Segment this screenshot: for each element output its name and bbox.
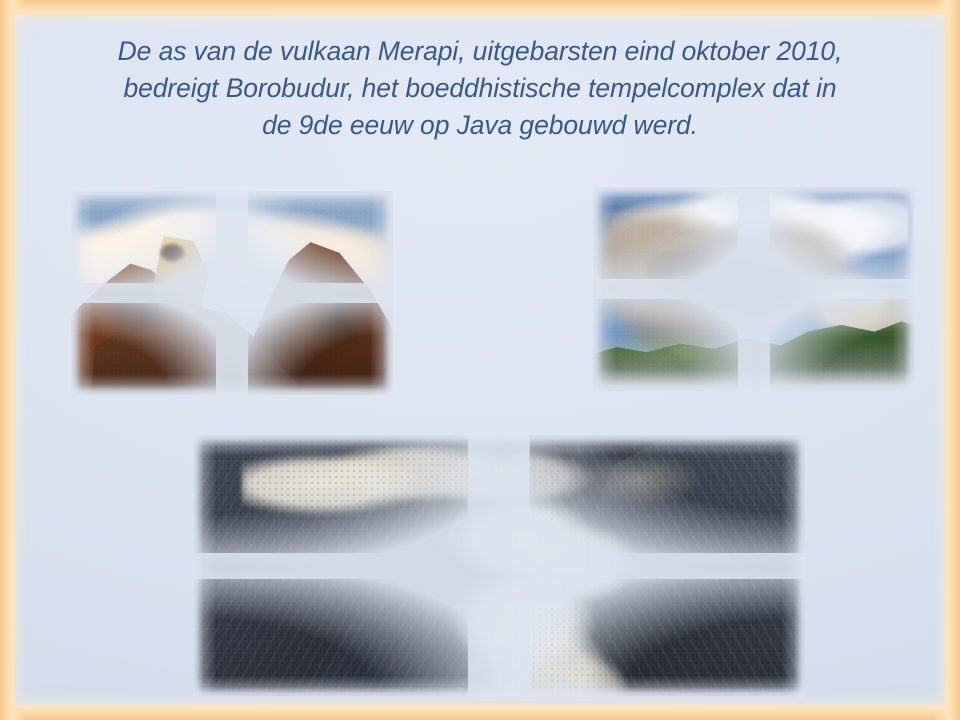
- ash-plume-artwork: [593, 187, 915, 391]
- title-line-1: De as van de vulkaan Merapi, uitgebarste…: [37, 33, 923, 70]
- ash-plume-photo: [593, 187, 915, 391]
- pyroclastic-flow-artwork: [193, 435, 805, 697]
- plume-texture-grain: [593, 187, 915, 391]
- pyroclastic-flow-photo: [193, 435, 805, 697]
- flow-texture-grain: [193, 435, 805, 697]
- title-line-3: de 9de eeuw op Java gebouwd werd.: [37, 107, 923, 144]
- slide-title: De as van de vulkaan Merapi, uitgebarste…: [37, 33, 923, 144]
- volcano-summit-artwork: [71, 191, 393, 395]
- summit-texture-grain: [71, 191, 393, 395]
- presentation-slide: De as van de vulkaan Merapi, uitgebarste…: [0, 0, 960, 720]
- slide-canvas: De as van de vulkaan Merapi, uitgebarste…: [15, 15, 945, 705]
- volcano-summit-photo: [71, 191, 393, 395]
- title-line-2: bedreigt Borobudur, het boeddhistische t…: [37, 70, 923, 107]
